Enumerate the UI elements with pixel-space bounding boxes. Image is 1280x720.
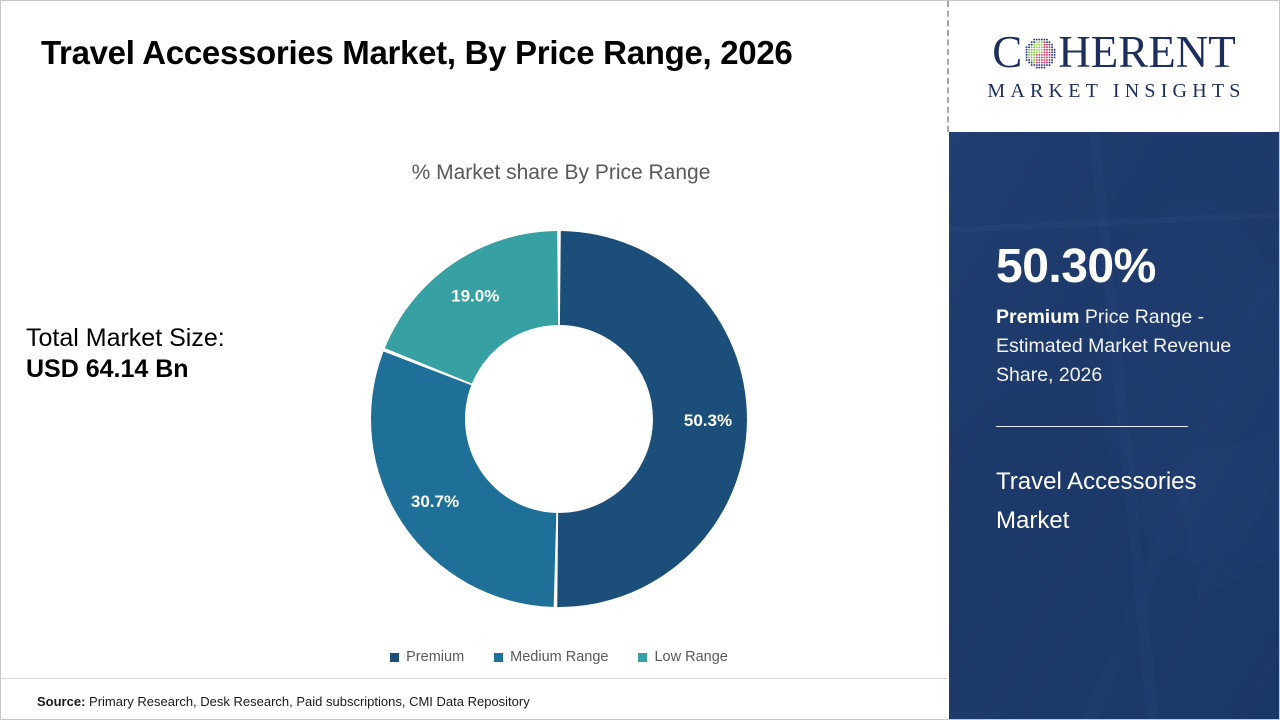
- highlight-panel-content: 50.30% Premium Price Range - Estimated M…: [996, 242, 1246, 541]
- infographic-page: Travel Accessories Market, By Price Rang…: [0, 0, 1280, 720]
- legend-label: Medium Range: [510, 649, 608, 665]
- panel-divider: [996, 426, 1188, 427]
- slice-label-medium-range: 30.7%: [411, 492, 459, 511]
- stat-caption: Premium Price Range - Estimated Market R…: [996, 303, 1246, 390]
- legend-item-premium: Premium: [390, 649, 464, 665]
- highlight-panel: 50.30% Premium Price Range - Estimated M…: [949, 132, 1279, 719]
- logo-wordmark: C HERENT: [992, 30, 1236, 75]
- donut-slice-medium-range: [371, 351, 556, 606]
- legend-label: Low Range: [654, 649, 727, 665]
- panel-market-name: Travel Accessories Market: [996, 463, 1246, 541]
- chart-subtitle: % Market share By Price Range: [211, 161, 911, 185]
- donut-slice-low-range: [385, 231, 558, 384]
- donut-chart-svg: 50.3%30.7%19.0%: [359, 219, 759, 619]
- globe-dots-icon: [1023, 36, 1057, 70]
- source-label: Source:: [37, 694, 85, 709]
- logo-word-left: C: [992, 30, 1022, 75]
- donut-chart: 50.3%30.7%19.0%: [359, 219, 759, 619]
- right-column: C HERENT MARKET INSIGHTS: [949, 1, 1279, 719]
- total-market-size-value: USD 64.14 Bn: [26, 354, 326, 385]
- source-divider: [1, 678, 947, 679]
- main-content-area: Travel Accessories Market, By Price Rang…: [1, 1, 947, 719]
- logo-word-right: HERENT: [1058, 30, 1235, 75]
- legend-swatch-icon: [494, 653, 503, 662]
- source-line: Source: Primary Research, Desk Research,…: [37, 694, 530, 709]
- total-market-size-block: Total Market Size: USD 64.14 Bn: [26, 323, 326, 384]
- stat-caption-bold: Premium: [996, 306, 1079, 328]
- stat-value: 50.30%: [996, 242, 1246, 292]
- legend-swatch-icon: [390, 653, 399, 662]
- brand-logo: C HERENT MARKET INSIGHTS: [949, 1, 1279, 132]
- page-title: Travel Accessories Market, By Price Rang…: [41, 34, 921, 72]
- legend-item-low-range: Low Range: [638, 649, 727, 665]
- chart-legend: PremiumMedium RangeLow Range: [209, 649, 909, 665]
- source-text: Primary Research, Desk Research, Paid su…: [85, 694, 529, 709]
- total-market-size-label: Total Market Size:: [26, 323, 326, 354]
- slice-label-low-range: 19.0%: [451, 286, 499, 305]
- logo-tagline: MARKET INSIGHTS: [982, 80, 1245, 103]
- slice-label-premium: 50.3%: [684, 411, 732, 430]
- legend-item-medium-range: Medium Range: [494, 649, 608, 665]
- legend-label: Premium: [406, 649, 464, 665]
- legend-swatch-icon: [638, 653, 647, 662]
